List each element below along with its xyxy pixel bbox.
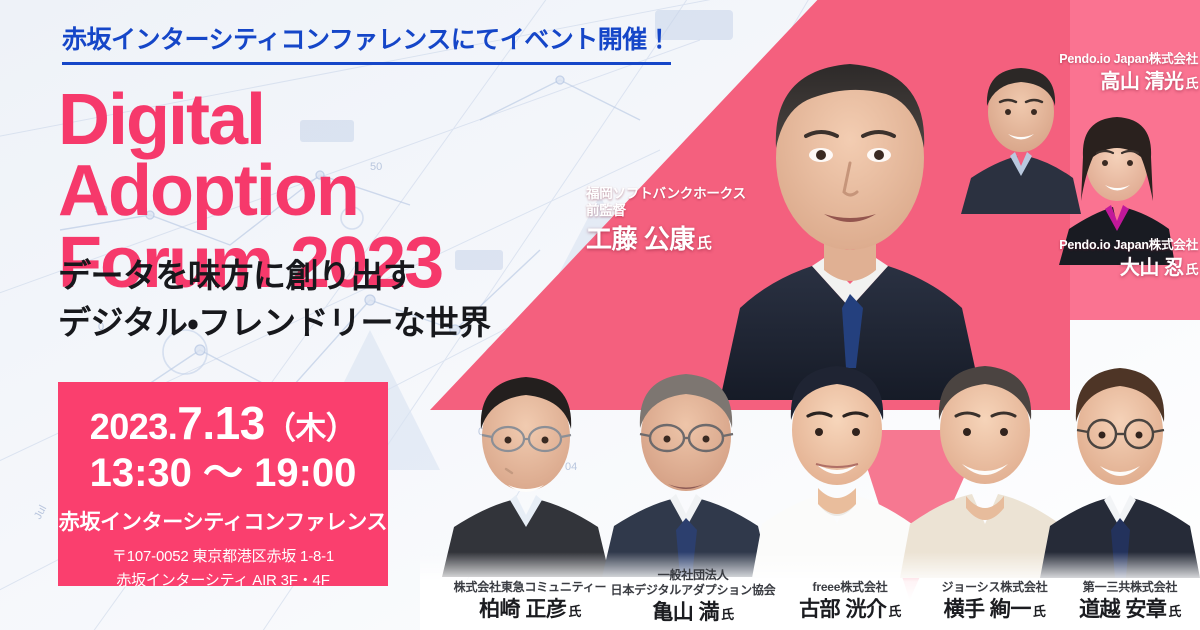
event-details-box: 2023.7.13（木） 13:30 〜 19:00 赤坂インターシティコンファ… [58, 382, 388, 586]
caption-org: Pendo.io Japan株式会社 [1006, 52, 1198, 68]
caption-org: Pendo.io Japan株式会社 [1006, 238, 1198, 254]
caption-oyama: Pendo.io Japan株式会社 大山 忍氏 [1006, 238, 1198, 281]
caption-name-text: 大山 忍 [1120, 257, 1184, 279]
caption-name: 高山 清光氏 [1006, 70, 1198, 95]
date-weekday: （木） [265, 411, 357, 446]
caption-org: 第一三共株式会社 [1055, 580, 1200, 595]
caption-honorific: 氏 [1033, 604, 1046, 619]
caption-honorific: 氏 [888, 604, 901, 619]
caption-org: ジョーシス株式会社 [912, 580, 1077, 595]
kicker-underline [62, 62, 671, 65]
caption-name: 工藤 公康氏 [586, 223, 776, 256]
date-year: 2023. [90, 406, 178, 447]
caption-org: 一般社団法人 日本デジタルアダプション協会 [598, 568, 788, 598]
caption-name: 柏崎 正彦氏 [440, 597, 620, 623]
caption-michikoshi: 第一三共株式会社 道越 安章氏 [1055, 580, 1200, 623]
caption-takayama: Pendo.io Japan株式会社 高山 清光氏 [1006, 52, 1198, 95]
kicker-text: 赤坂インターシティコンファレンスにてイベント開催！ [62, 27, 671, 55]
caption-name: 横手 絢一氏 [912, 597, 1077, 623]
caption-kameyama: 一般社団法人 日本デジタルアダプション協会 亀山 満氏 [598, 568, 788, 626]
event-banner: 50 0 50 01 01 04 Jul Aug Sep 赤坂インターシティコン… [0, 0, 1200, 630]
caption-honorific: 氏 [697, 235, 712, 252]
caption-org: freee株式会社 [770, 580, 930, 595]
caption-honorific: 氏 [1168, 604, 1181, 619]
caption-name: 道越 安章氏 [1055, 597, 1200, 623]
caption-name: 亀山 満氏 [598, 600, 788, 626]
caption-name: 大山 忍氏 [1006, 256, 1198, 281]
caption-org: 株式会社東急コミュニティー [440, 580, 620, 595]
caption-keynote-kudo: 福岡ソフトバンクホークス 前監督 工藤 公康氏 [586, 186, 776, 255]
caption-name-text: 古部 洸介 [799, 598, 886, 621]
caption-name-text: 道越 安章 [1079, 598, 1166, 621]
portrait-kameyama [600, 352, 772, 577]
caption-honorific: 氏 [568, 604, 581, 619]
page-subtitle: データを味方に創り出す デジタル・フレンドリーな世界 [58, 253, 491, 347]
venue-address: 〒107-0052 東京都港区赤坂 1-8-1 赤坂インターシティ AIR 3F… [112, 545, 334, 593]
event-time: 13:30 〜 19:00 [90, 451, 357, 495]
caption-honorific: 氏 [1185, 262, 1198, 277]
caption-name-text: 工藤 公康 [586, 224, 695, 254]
caption-kashiwazaki: 株式会社東急コミュニティー 柏崎 正彦氏 [440, 580, 620, 623]
kicker-banner: 赤坂インターシティコンファレンスにてイベント開催！ [62, 27, 671, 65]
venue-name: 赤坂インターシティコンファレンス [59, 506, 387, 536]
date-day: 7.13 [177, 397, 265, 449]
caption-name-text: 亀山 満 [652, 601, 719, 624]
caption-honorific: 氏 [721, 607, 734, 622]
caption-org: 福岡ソフトバンクホークス 前監督 [586, 186, 776, 220]
event-date: 2023.7.13（木） [90, 396, 357, 450]
portrait-kashiwazaki [440, 355, 612, 577]
caption-name: 古部 洸介氏 [770, 597, 930, 623]
portrait-michikoshi [1040, 352, 1200, 578]
portrait-kobe [752, 348, 922, 578]
caption-name-text: 柏崎 正彦 [479, 598, 566, 621]
caption-kobe: freee株式会社 古部 洸介氏 [770, 580, 930, 623]
caption-yokote: ジョーシス株式会社 横手 絢一氏 [912, 580, 1077, 623]
caption-honorific: 氏 [1185, 76, 1198, 91]
caption-name-text: 横手 絢一 [944, 598, 1031, 621]
caption-name-text: 高山 清光 [1100, 71, 1183, 93]
